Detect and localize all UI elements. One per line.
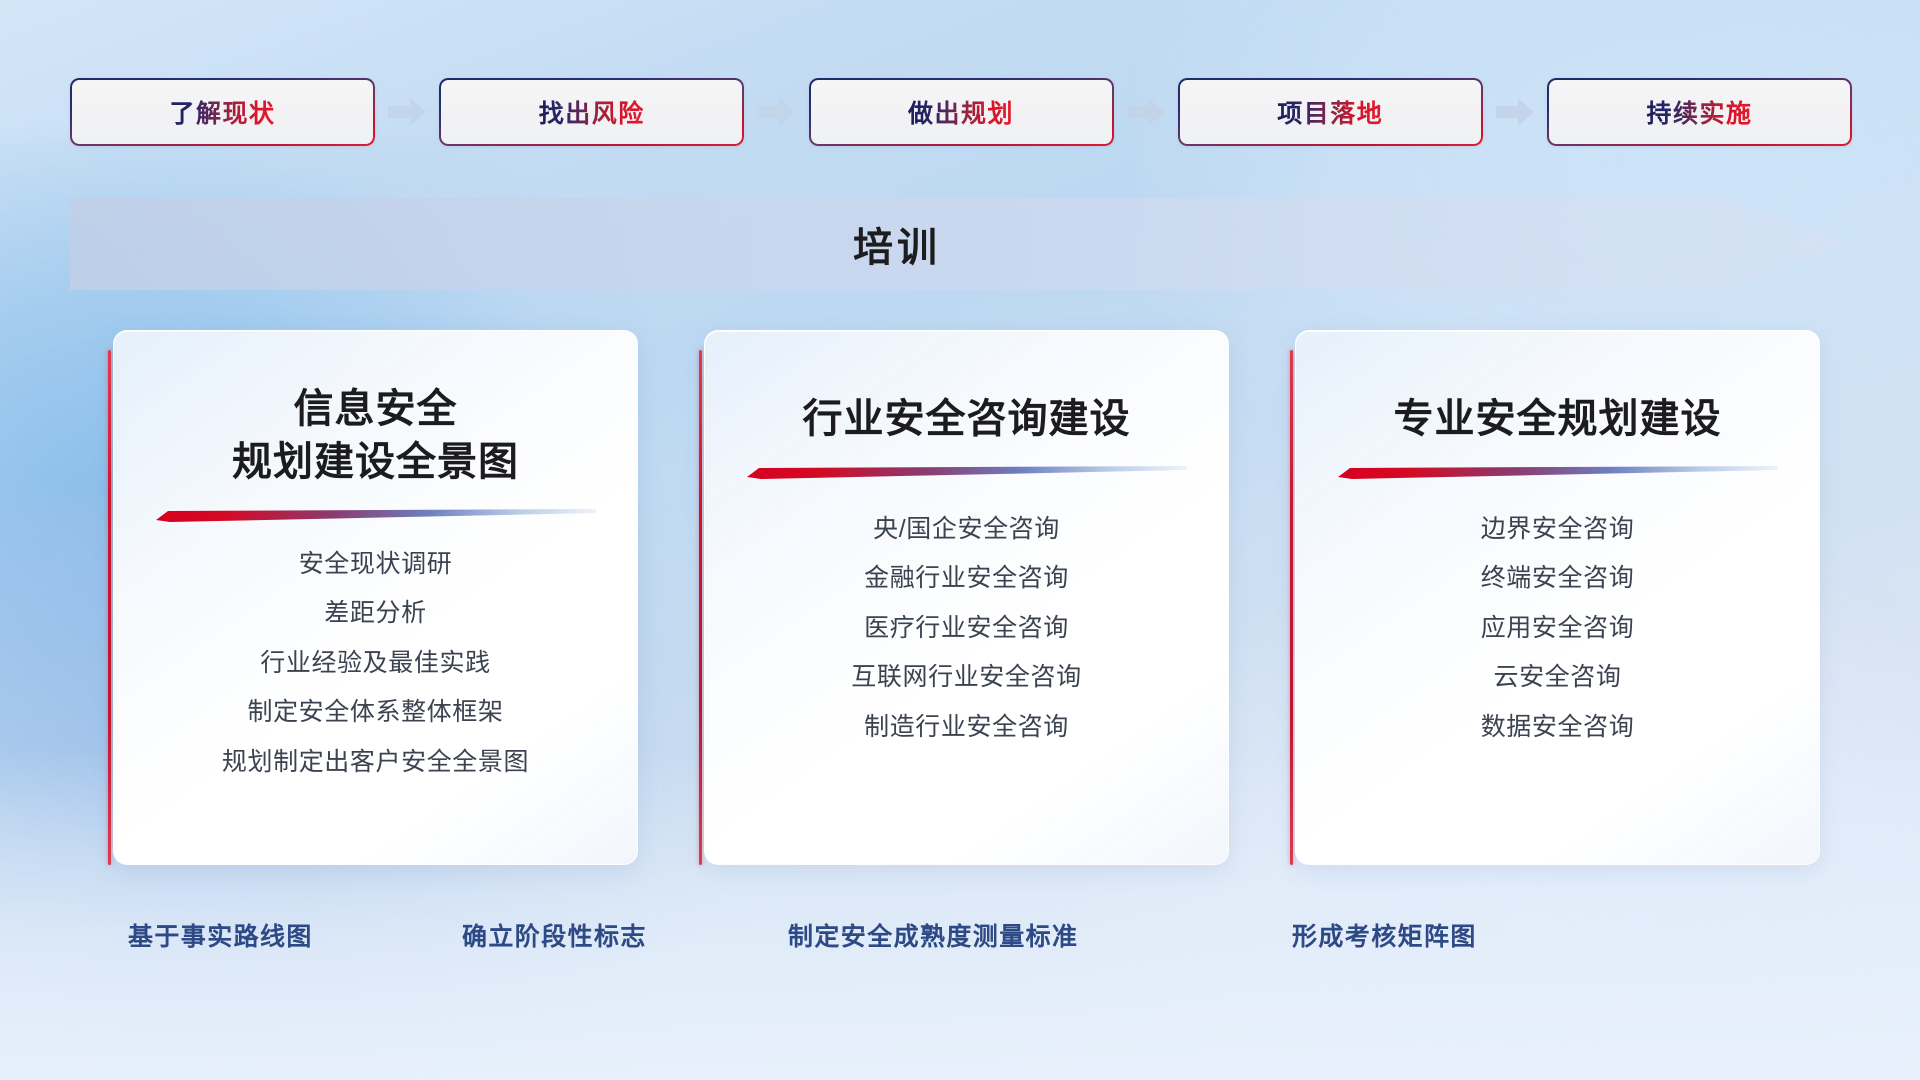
- arrow-right-icon: [755, 95, 797, 129]
- card-industry-consulting[interactable]: 行业安全咨询建设: [704, 330, 1229, 865]
- list-item: 央/国企安全咨询: [851, 509, 1081, 551]
- step-label-2: 找出风险: [539, 94, 645, 130]
- process-step-row: 了解现状 找出风险 做出规划 项目落地: [70, 78, 1852, 146]
- list-item: 云安全咨询: [1481, 657, 1635, 699]
- card-list-1: 安全现状调研 差距分析 行业经验及最佳实践 制定安全体系整体框架 规划制定出客户…: [222, 544, 529, 784]
- arrow-right-icon: [1125, 95, 1167, 129]
- banner-title: 培训: [70, 198, 1724, 290]
- step-box-3[interactable]: 做出规划: [809, 78, 1114, 146]
- list-item: 边界安全咨询: [1481, 509, 1635, 551]
- card-panorama[interactable]: 信息安全 规划建设全景图: [113, 330, 638, 865]
- list-item: 医疗行业安全咨询: [851, 608, 1081, 650]
- list-item: 金融行业安全咨询: [851, 558, 1081, 600]
- caption-4: 形成考核矩阵图: [1292, 912, 1477, 958]
- card-title-1: 信息安全 规划建设全景图: [232, 383, 519, 489]
- list-item: 制定安全体系整体框架: [222, 692, 529, 734]
- card-title-3: 专业安全规划建设: [1394, 393, 1722, 446]
- list-item: 应用安全咨询: [1481, 608, 1635, 650]
- card-wrap-2: 行业安全咨询建设: [699, 330, 1229, 865]
- list-item: 行业经验及最佳实践: [222, 643, 529, 685]
- step-label-3: 做出规划: [908, 94, 1014, 130]
- card-wrap-1: 信息安全 规划建设全景图: [108, 330, 638, 865]
- step-label-5: 持续实施: [1646, 94, 1752, 130]
- card-row: 信息安全 规划建设全景图: [108, 330, 1820, 865]
- caption-row: 基于事实路线图 确立阶段性标志 制定安全成熟度测量标准 形成考核矩阵图: [0, 912, 1920, 958]
- card-list-3: 边界安全咨询 终端安全咨询 应用安全咨询 云安全咨询 数据安全咨询: [1481, 509, 1635, 749]
- card-professional-planning[interactable]: 专业安全规划建设: [1295, 330, 1820, 865]
- card-title-line: 规划建设全景图: [232, 436, 519, 489]
- card-title-2: 行业安全咨询建设: [803, 393, 1131, 446]
- caption-3: 制定安全成熟度测量标准: [788, 912, 1078, 958]
- card-divider: [747, 466, 1187, 479]
- list-item: 规划制定出客户安全全景图: [222, 742, 529, 784]
- card-title-line: 专业安全规划建设: [1394, 393, 1722, 446]
- arrow-right-icon: [1494, 95, 1536, 129]
- step-label-4: 项目落地: [1277, 94, 1383, 130]
- list-item: 制造行业安全咨询: [851, 707, 1081, 749]
- card-title-line: 行业安全咨询建设: [803, 393, 1131, 446]
- step-box-1[interactable]: 了解现状: [70, 78, 375, 146]
- list-item: 安全现状调研: [222, 544, 529, 586]
- list-item: 差距分析: [222, 593, 529, 635]
- card-divider: [156, 509, 596, 522]
- list-item: 数据安全咨询: [1481, 707, 1635, 749]
- card-title-line: 信息安全: [232, 383, 519, 436]
- caption-1: 基于事实路线图: [128, 912, 313, 958]
- card-wrap-3: 专业安全规划建设: [1290, 330, 1820, 865]
- caption-2: 确立阶段性标志: [462, 912, 647, 958]
- list-item: 终端安全咨询: [1481, 558, 1635, 600]
- list-item: 互联网行业安全咨询: [851, 657, 1081, 699]
- arrow-right-icon: [386, 95, 428, 129]
- training-banner: 培训: [70, 198, 1852, 290]
- step-box-2[interactable]: 找出风险: [439, 78, 744, 146]
- step-label-1: 了解现状: [169, 94, 275, 130]
- card-accent-line: [1290, 350, 1293, 865]
- step-box-4[interactable]: 项目落地: [1178, 78, 1483, 146]
- card-accent-line: [699, 350, 702, 865]
- card-divider: [1338, 466, 1778, 479]
- card-accent-line: [108, 350, 111, 865]
- step-box-5[interactable]: 持续实施: [1547, 78, 1852, 146]
- card-list-2: 央/国企安全咨询 金融行业安全咨询 医疗行业安全咨询 互联网行业安全咨询 制造行…: [851, 509, 1081, 749]
